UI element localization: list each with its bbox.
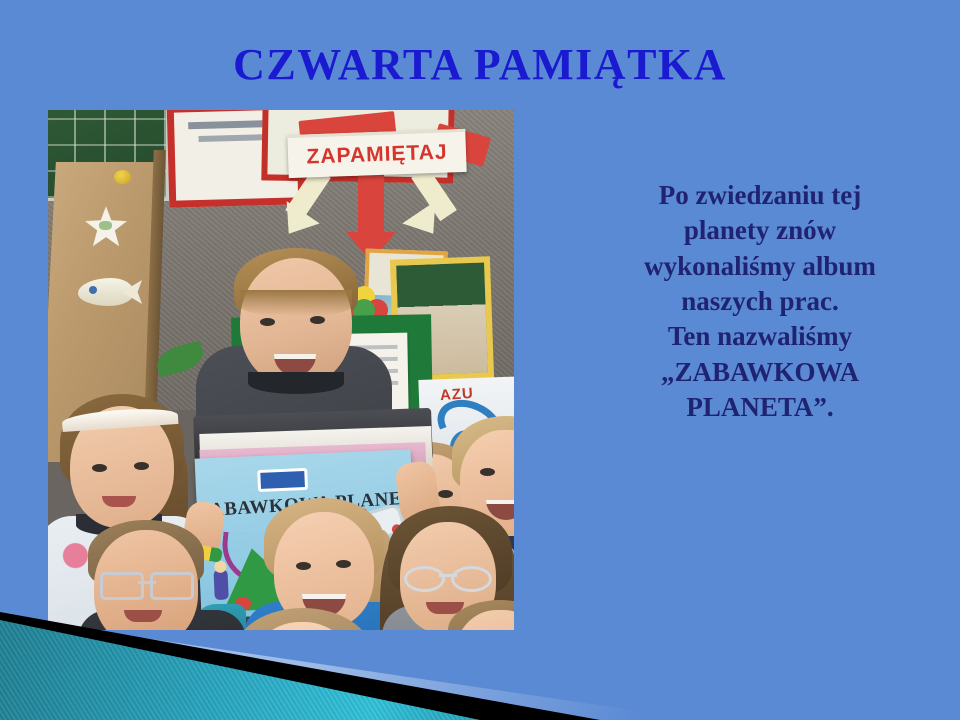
glasses-lens (100, 572, 144, 600)
boy-eye (260, 318, 275, 326)
child-glasses (404, 566, 492, 586)
body-line: wykonaliśmy album (560, 249, 960, 284)
child-eye (336, 560, 351, 568)
yellow-dot-cutout (114, 170, 131, 184)
child-eye (480, 468, 495, 476)
boy-hair-fringe (240, 290, 352, 316)
body-text-block: Po zwiedzaniu tej planety znów wykonaliś… (560, 178, 960, 426)
glasses-lens (150, 572, 194, 600)
boy-eye (310, 316, 325, 324)
body-line: Ten nazwaliśmy (560, 319, 960, 354)
page-title: CZWARTA PAMIĄTKA (0, 42, 960, 88)
child-eye (438, 490, 453, 498)
body-line: PLANETA”. (560, 390, 960, 425)
zapamietaj-sign: ZAPAMIĘTAJ (287, 129, 466, 178)
glasses-lens (451, 566, 492, 592)
body-line: Po zwiedzaniu tej (560, 178, 960, 213)
album-label-tab (257, 468, 308, 492)
body-line: planety znów (560, 213, 960, 248)
child-mouth (124, 610, 162, 622)
child-glasses (100, 572, 194, 594)
child-eye (134, 462, 149, 470)
album-figure-cutout (213, 569, 228, 600)
child-eye (296, 562, 311, 570)
zapamietaj-sign-label: ZAPAMIĘTAJ (287, 132, 466, 178)
glasses-lens (404, 566, 445, 592)
slide-canvas: CZWARTA PAMIĄTKA Po zwiedzaniu tej plane… (0, 0, 960, 720)
decoration-teal-triangle (0, 620, 480, 720)
fish-eye (89, 286, 97, 294)
body-line: naszych prac. (560, 284, 960, 319)
boy-collar (248, 372, 344, 394)
body-line: „ZABAWKOWA (560, 355, 960, 390)
child-eye (92, 464, 107, 472)
red-arrow-shaft (358, 172, 384, 238)
classroom-photo: ZAPAMIĘTAJ AZU (48, 110, 514, 630)
